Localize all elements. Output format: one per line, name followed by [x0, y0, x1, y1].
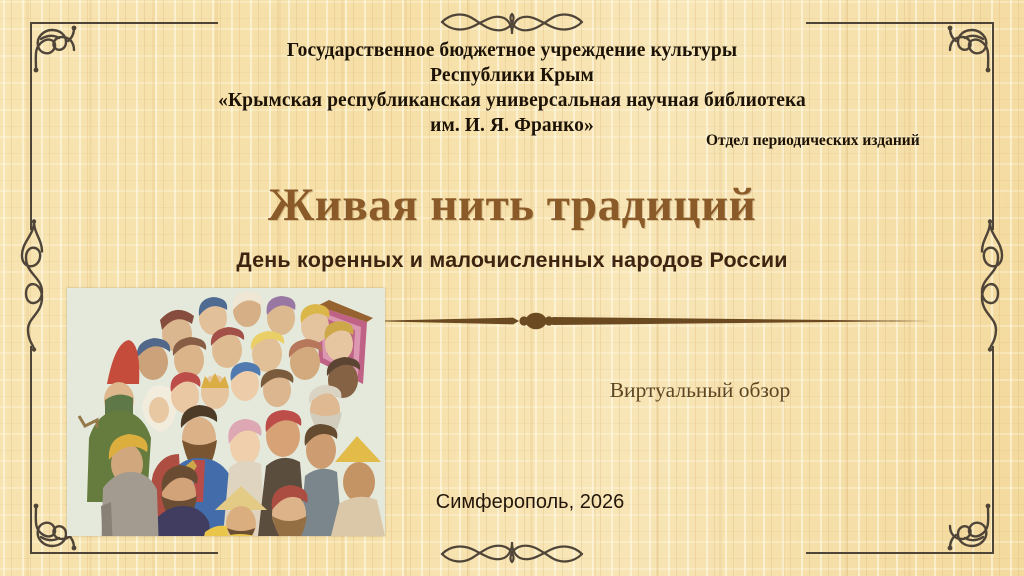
department-label: Отдел периодических изданий [706, 131, 936, 150]
organization-line-1: Государственное бюджетное учреждение кул… [0, 38, 1024, 63]
organization-line-2: Республики Крым [0, 63, 1024, 88]
organization-header: Государственное бюджетное учреждение кул… [0, 38, 1024, 138]
bottom-center-scroll-ornament-icon [432, 529, 592, 574]
peoples-of-russia-illustration [67, 288, 385, 536]
organization-line-3: «Крымская республиканская универсальная … [0, 88, 1024, 113]
diamond-rule-divider-ornament [363, 308, 931, 334]
left-center-flourish-ornament-icon [12, 218, 56, 359]
presentation-slide: Государственное бюджетное учреждение кул… [0, 0, 1024, 576]
right-center-flourish-ornament-icon [968, 218, 1012, 359]
format-label: Виртуальный обзор [470, 378, 930, 403]
page-subtitle: День коренных и малочисленных народов Ро… [0, 248, 1024, 273]
page-title: Живая нить традиций [0, 178, 1024, 232]
corner-flourish-icon-bottom-right [934, 489, 1012, 572]
